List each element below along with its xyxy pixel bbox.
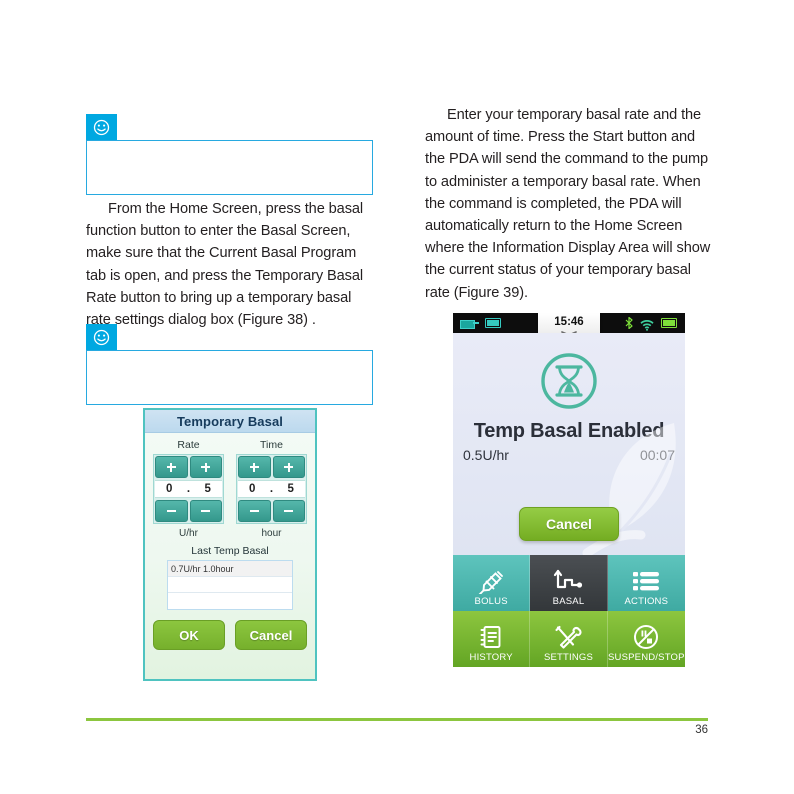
rate-decimal-digit: 5 bbox=[194, 483, 223, 495]
wifi-icon bbox=[640, 318, 654, 329]
dialog-title: Temporary Basal bbox=[145, 410, 315, 433]
syringe-icon bbox=[476, 566, 506, 596]
rate-decimal-plus-button[interactable] bbox=[190, 456, 223, 478]
footer-rule bbox=[86, 718, 708, 721]
nav-label: BOLUS bbox=[475, 596, 508, 607]
right-paragraph-1: Enter your temporary basal rate and the … bbox=[425, 104, 715, 304]
nav-label: BASAL bbox=[553, 596, 585, 607]
notebook-icon bbox=[479, 622, 503, 652]
last-temp-basal-caption: Last Temp Basal bbox=[167, 545, 293, 560]
rate-decimal-point: . bbox=[184, 483, 194, 495]
bluetooth-icon bbox=[625, 317, 633, 329]
time-integer-plus-button[interactable] bbox=[238, 456, 271, 478]
time-decimal-plus-button[interactable] bbox=[273, 456, 306, 478]
time-decimal-digit: 5 bbox=[277, 483, 306, 495]
time-integer-minus-button[interactable] bbox=[238, 500, 271, 522]
status-icon-wrap bbox=[453, 333, 685, 416]
pda-nav-grid: BOLUS BASAL bbox=[453, 555, 685, 667]
smiley-icon bbox=[86, 324, 117, 351]
nav-item-settings[interactable]: SETTINGS bbox=[530, 611, 607, 667]
pda-status-bar: 15:46 bbox=[453, 313, 685, 333]
rate-integer-minus-button[interactable] bbox=[155, 500, 188, 522]
note-callout-2 bbox=[86, 324, 373, 405]
time-integer-digit: 0 bbox=[238, 483, 267, 495]
rate-integer-plus-button[interactable] bbox=[155, 456, 188, 478]
basal-graph-icon bbox=[552, 566, 584, 596]
status-rate: 0.5U/hr bbox=[463, 447, 509, 463]
list-item[interactable] bbox=[168, 577, 292, 593]
rate-caption: Rate bbox=[153, 437, 224, 454]
information-display-area: Temp Basal Enabled 0.5U/hr 00:07 Cancel bbox=[453, 333, 685, 555]
time-stepper: 0 . 5 bbox=[236, 454, 307, 524]
nav-item-actions[interactable]: ACTIONS bbox=[608, 555, 685, 611]
note-callout-2-body bbox=[86, 350, 373, 405]
list-item[interactable]: 0.7U/hr 1.0hour bbox=[168, 561, 292, 577]
nav-item-bolus[interactable]: BOLUS bbox=[453, 555, 530, 611]
rate-unit-label: U/hr bbox=[153, 524, 224, 539]
status-time: 15:46 bbox=[554, 313, 583, 332]
nav-label: SETTINGS bbox=[544, 652, 593, 663]
rate-column: Rate 0 . 5 U/hr bbox=[153, 437, 224, 539]
pda-cancel-button[interactable]: Cancel bbox=[519, 507, 619, 541]
time-caption: Time bbox=[236, 437, 307, 454]
left-paragraph-1: From the Home Screen, press the basal fu… bbox=[86, 198, 376, 331]
time-decimal-minus-button[interactable] bbox=[273, 500, 306, 522]
rate-integer-digit: 0 bbox=[155, 483, 184, 495]
ok-button[interactable]: OK bbox=[153, 620, 225, 650]
nav-item-suspend-stop[interactable]: SUSPEND/STOP bbox=[608, 611, 685, 667]
nav-label: ACTIONS bbox=[625, 596, 669, 607]
last-temp-basal-list[interactable]: 0.7U/hr 1.0hour bbox=[167, 560, 293, 610]
page-number: 36 bbox=[695, 724, 708, 736]
manual-page: From the Home Screen, press the basal fu… bbox=[0, 0, 794, 794]
tools-icon bbox=[554, 622, 582, 652]
list-icon bbox=[631, 566, 661, 596]
syringe-icon bbox=[460, 319, 479, 328]
battery-icon bbox=[485, 318, 501, 328]
time-unit-label: hour bbox=[236, 524, 307, 539]
nav-item-basal[interactable]: BASAL bbox=[530, 555, 607, 611]
rate-stepper: 0 . 5 bbox=[153, 454, 224, 524]
list-item[interactable] bbox=[168, 593, 292, 609]
nav-item-history[interactable]: HISTORY bbox=[453, 611, 530, 667]
hourglass-icon bbox=[539, 351, 599, 411]
smiley-icon bbox=[86, 114, 117, 141]
time-value-display: 0 . 5 bbox=[238, 480, 305, 498]
cancel-button[interactable]: Cancel bbox=[235, 620, 307, 650]
last-temp-basal-section: Last Temp Basal 0.7U/hr 1.0hour bbox=[145, 539, 315, 610]
figure-39-pda-home-screen: 15:46 bbox=[453, 313, 685, 667]
note-callout-1-body bbox=[86, 140, 373, 195]
note-callout-1 bbox=[86, 114, 373, 195]
rate-decimal-minus-button[interactable] bbox=[190, 500, 223, 522]
time-column: Time 0 . 5 hour bbox=[236, 437, 307, 539]
rate-value-display: 0 . 5 bbox=[155, 480, 222, 498]
nav-label: SUSPEND/STOP bbox=[608, 652, 685, 663]
figure-38-temporary-basal-dialog: Temporary Basal Rate 0 . 5 bbox=[143, 408, 317, 681]
pause-stop-icon bbox=[633, 622, 659, 652]
time-decimal-point: . bbox=[267, 483, 277, 495]
battery-icon bbox=[661, 318, 677, 328]
nav-label: HISTORY bbox=[470, 652, 513, 663]
